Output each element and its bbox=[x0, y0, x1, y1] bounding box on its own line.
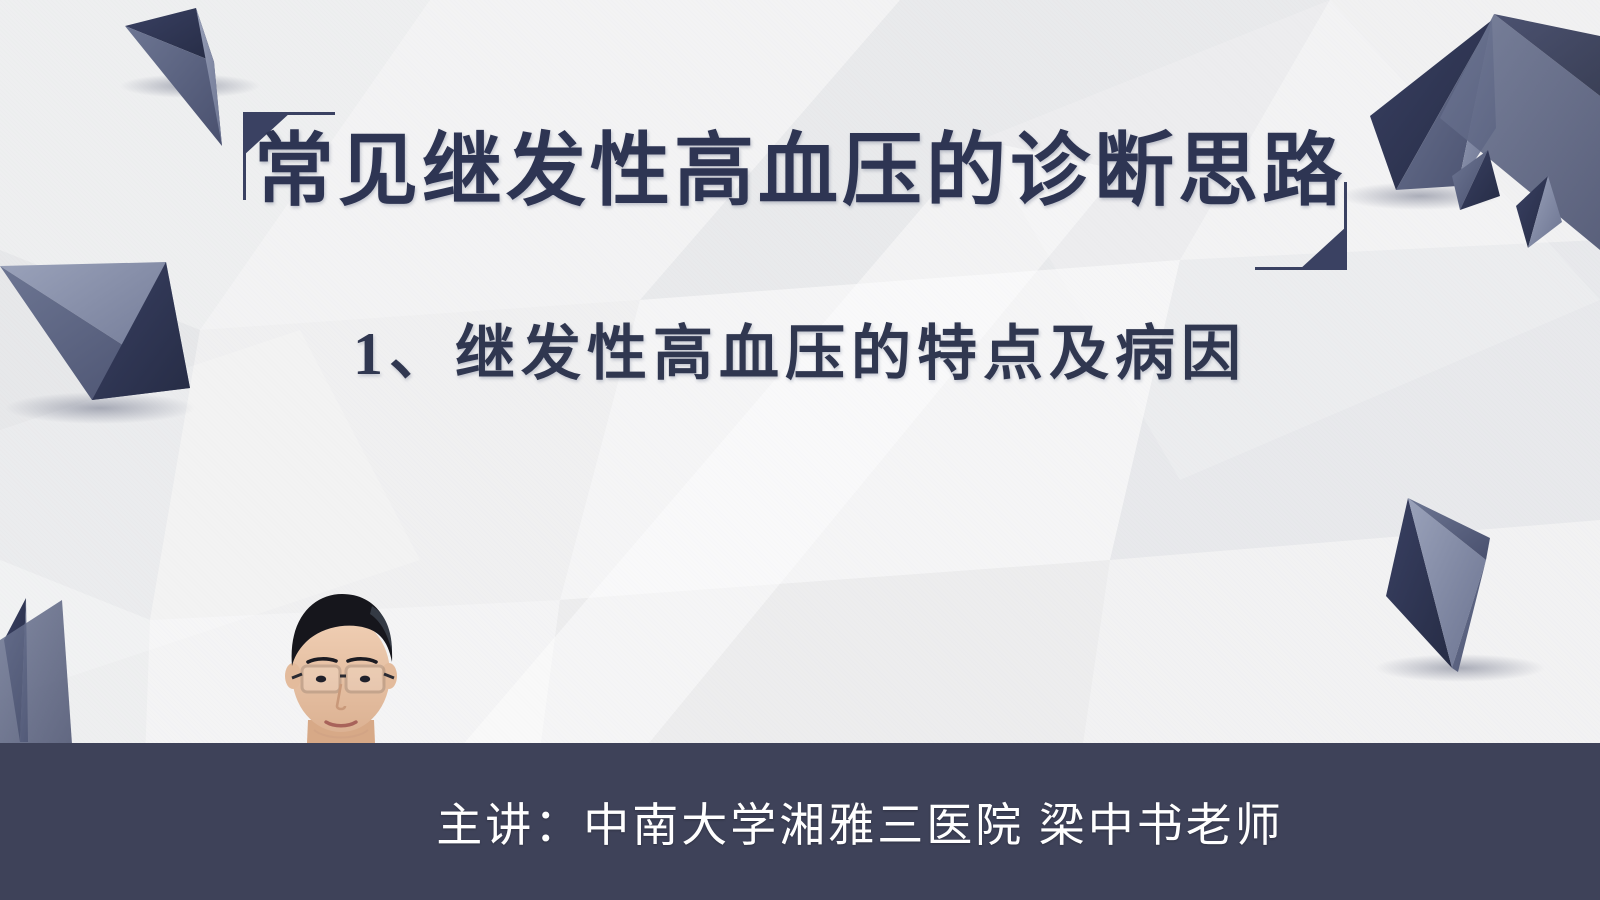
slide-canvas: 常见继发性高血压的诊断思路 1、继发性高血压的特点及病因 bbox=[0, 0, 1600, 900]
presenter-banner: 主讲：中南大学湘雅三医院 梁中书老师 bbox=[0, 743, 1600, 900]
presenter-banner-text: 主讲：中南大学湘雅三医院 梁中书老师 bbox=[316, 789, 1284, 855]
